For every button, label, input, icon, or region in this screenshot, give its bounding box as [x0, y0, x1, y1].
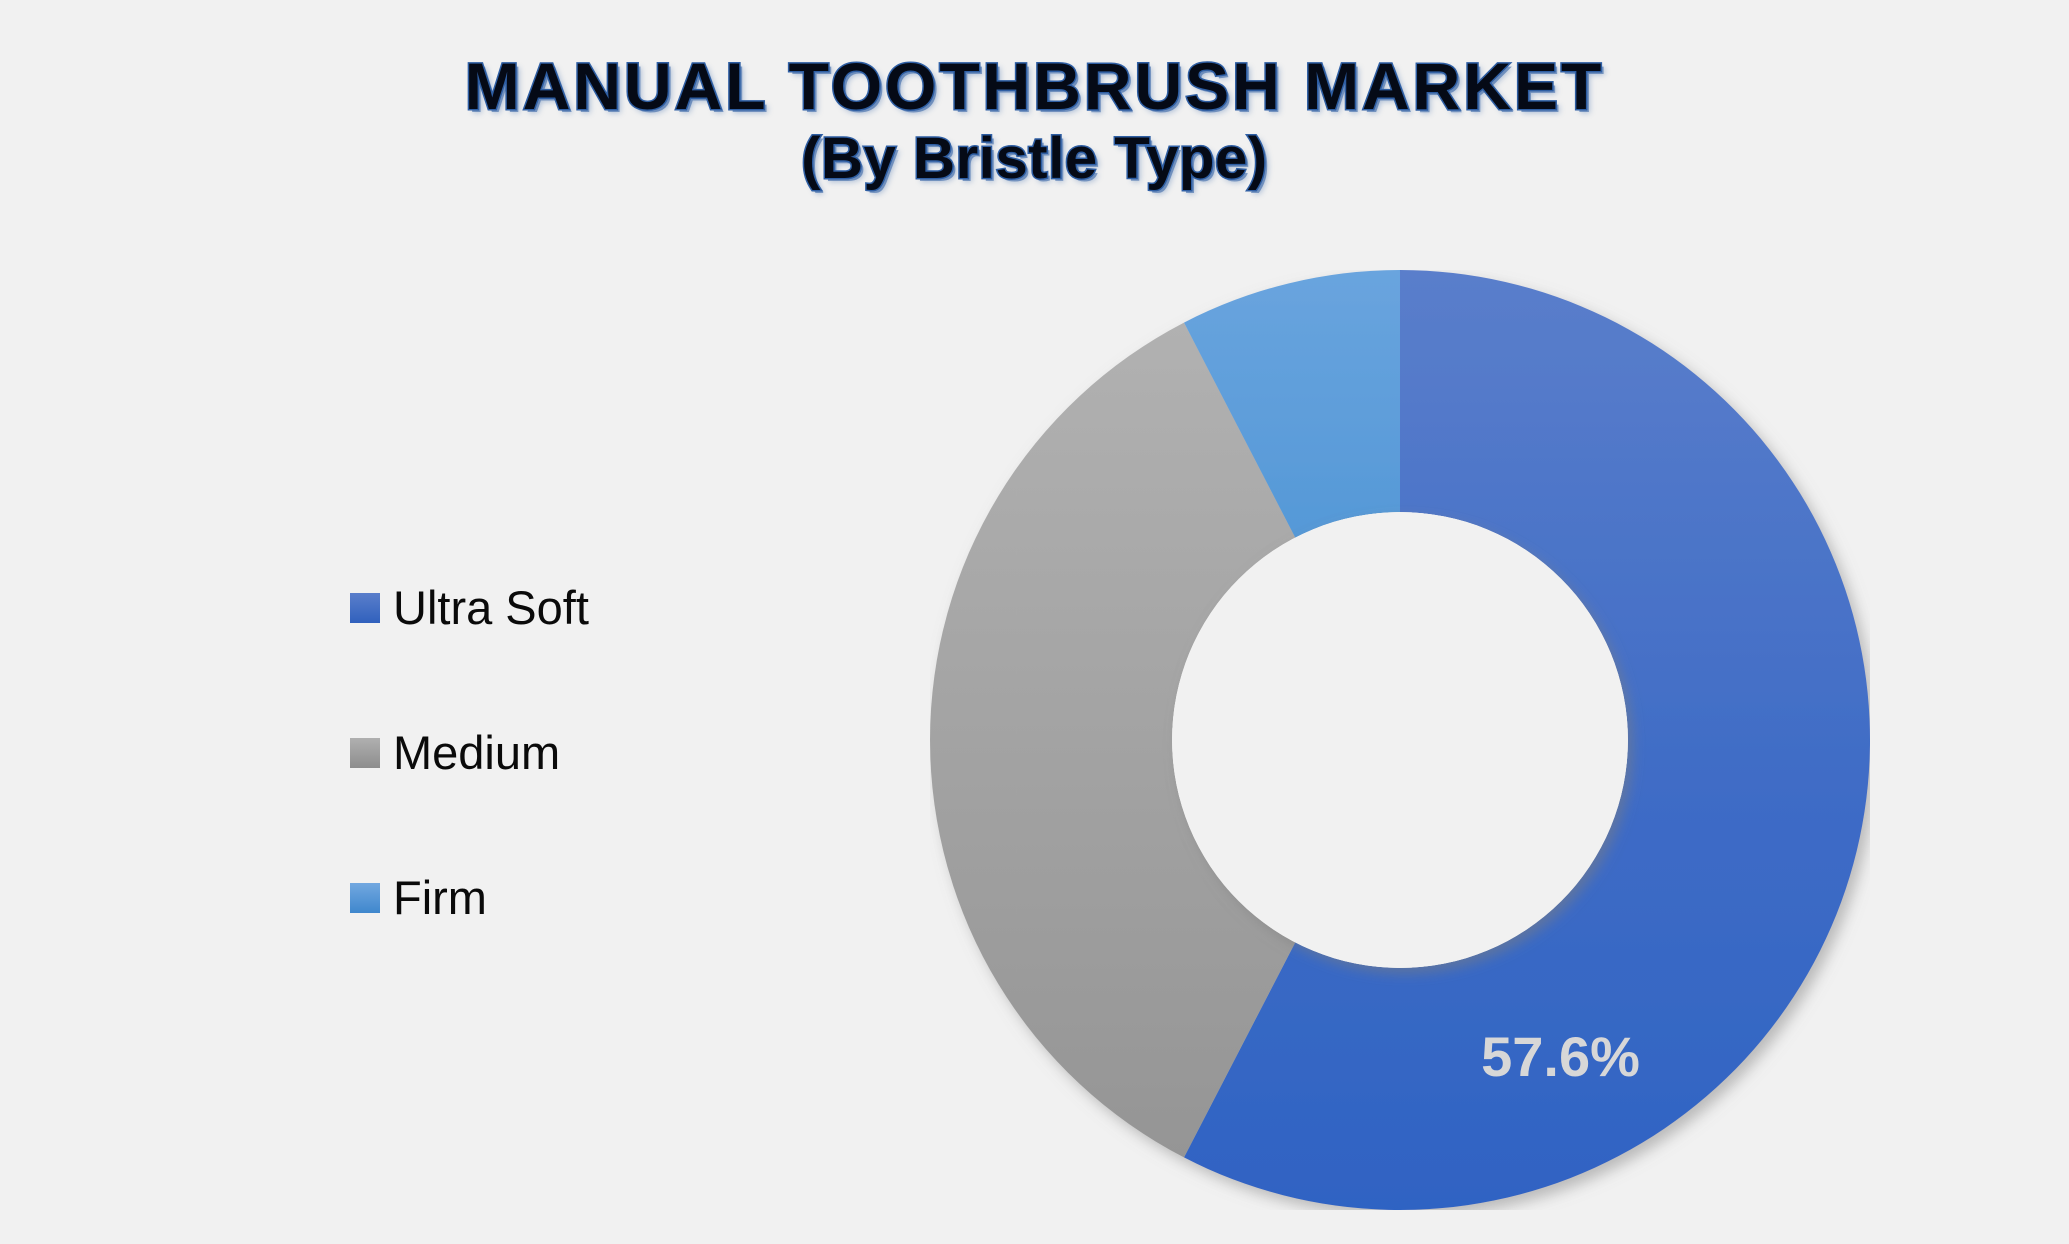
legend-item-medium[interactable]: Medium — [350, 680, 770, 825]
chart-subtitle: (By Bristle Type) — [0, 129, 2069, 189]
legend-item-ultra-soft[interactable]: Ultra Soft — [350, 535, 770, 680]
legend-swatch-icon-firm — [350, 883, 380, 913]
legend-swatch-icon-ultra-soft — [350, 593, 380, 623]
donut-hole-fill — [1172, 512, 1628, 968]
donut-chart-svg: 57.6% — [930, 270, 1870, 1210]
legend-label-medium: Medium — [393, 729, 560, 776]
legend-swatch-icon-medium — [350, 738, 380, 768]
donut-chart: 57.6% — [930, 270, 1870, 1210]
chart-title: MANUAL TOOTHBRUSH MARKET — [0, 52, 2069, 121]
legend-label-firm: Firm — [393, 874, 487, 921]
chart-figure: MANUAL TOOTHBRUSH MARKET (By Bristle Typ… — [0, 0, 2069, 1244]
legend-label-ultra-soft: Ultra Soft — [393, 584, 589, 631]
chart-legend: Ultra Soft Medium Firm — [350, 535, 770, 970]
legend-item-firm[interactable]: Firm — [350, 825, 770, 970]
donut-slice-label-ultra-soft: 57.6% — [1481, 1025, 1640, 1088]
chart-title-block: MANUAL TOOTHBRUSH MARKET (By Bristle Typ… — [0, 52, 2069, 189]
